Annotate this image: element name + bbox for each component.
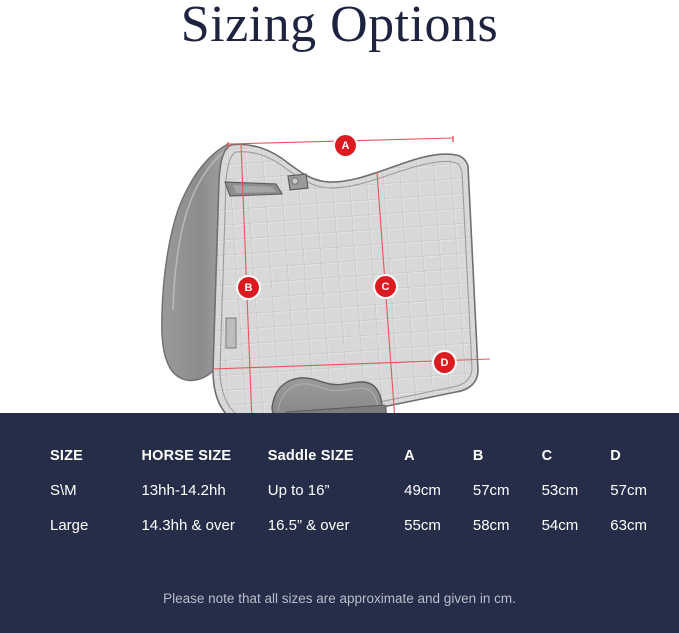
measurement-marker-b[interactable]: B (238, 277, 259, 298)
marker-label-c: C (382, 281, 390, 293)
marker-label-a: A (342, 140, 350, 152)
sizing-table: SIZE HORSE SIZE Saddle SIZE A B C D S\M … (0, 439, 679, 543)
cell-a: 49cm (404, 473, 473, 508)
marker-label-d: D (441, 357, 449, 369)
column-header-saddle-size: Saddle SIZE (268, 439, 404, 473)
column-header-c: C (542, 439, 611, 473)
cell-b: 58cm (473, 508, 542, 543)
saddle-pad-illustration (0, 60, 679, 413)
sizing-table-body: S\M 13hh-14.2hh Up to 16” 49cm 57cm 53cm… (0, 473, 679, 543)
cell-d: 63cm (610, 508, 679, 543)
cell-b: 57cm (473, 473, 542, 508)
pad-side-tab (226, 318, 236, 348)
page-title: Sizing Options (181, 0, 499, 52)
footer-note: Please note that all sizes are approxima… (0, 591, 679, 606)
measurement-marker-c[interactable]: C (375, 276, 396, 297)
cell-size: S\M (0, 473, 141, 508)
sizing-table-header: SIZE HORSE SIZE Saddle SIZE A B C D (0, 439, 679, 473)
cell-horse-size: 14.3hh & over (141, 508, 267, 543)
column-header-size: SIZE (0, 439, 141, 473)
measurement-marker-d[interactable]: D (434, 352, 455, 373)
column-header-horse-size: HORSE SIZE (141, 439, 267, 473)
marker-label-b: B (245, 282, 253, 294)
table-row: S\M 13hh-14.2hh Up to 16” 49cm 57cm 53cm… (0, 473, 679, 508)
column-header-d: D (610, 439, 679, 473)
column-header-a: A (404, 439, 473, 473)
cell-size: Large (0, 508, 141, 543)
cell-horse-size: 13hh-14.2hh (141, 473, 267, 508)
cell-a: 55cm (404, 508, 473, 543)
measurement-marker-a[interactable]: A (335, 135, 356, 156)
cell-c: 54cm (542, 508, 611, 543)
sizing-info-panel: SIZE HORSE SIZE Saddle SIZE A B C D S\M … (0, 413, 679, 633)
title-area: Sizing Options (0, 0, 679, 60)
table-header-row: SIZE HORSE SIZE Saddle SIZE A B C D (0, 439, 679, 473)
cell-saddle-size: Up to 16” (268, 473, 404, 508)
cell-c: 53cm (542, 473, 611, 508)
column-header-b: B (473, 439, 542, 473)
cell-d: 57cm (610, 473, 679, 508)
cell-saddle-size: 16.5” & over (268, 508, 404, 543)
saddle-pad-diagram: A B C D (0, 60, 679, 413)
table-row: Large 14.3hh & over 16.5” & over 55cm 58… (0, 508, 679, 543)
